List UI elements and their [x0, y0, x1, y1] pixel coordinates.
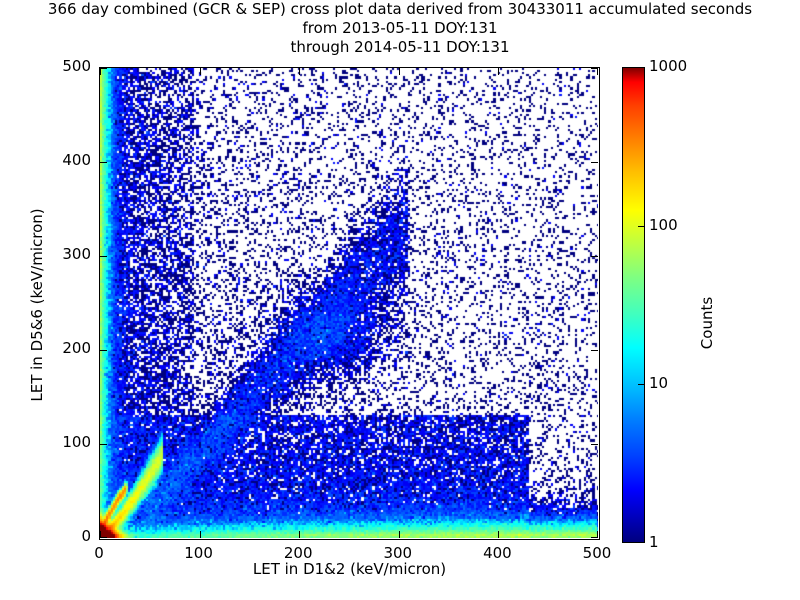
colorbar-gradient — [622, 67, 645, 543]
x-tick-mark — [200, 531, 201, 538]
colorbar-tick-label: 1000 — [649, 57, 687, 75]
plot-area — [99, 67, 600, 540]
y-tick-mark — [100, 444, 107, 445]
colorbar-title: Counts — [698, 253, 716, 393]
scatter-heatmap — [100, 68, 598, 538]
y-tick-label: 500 — [21, 57, 91, 75]
x-tick-mark — [299, 531, 300, 538]
y-axis-label: LET in D5&6 (keV/micron) — [28, 185, 46, 425]
title-line-3: through 2014-05-11 DOY:131 — [0, 38, 800, 57]
y-tick-label: 0 — [21, 527, 91, 545]
figure-title: 366 day combined (GCR & SEP) cross plot … — [0, 0, 800, 57]
x-axis-label: LET in D1&2 (keV/micron) — [99, 560, 600, 578]
y-tick-mark — [591, 350, 598, 351]
figure-canvas: 366 day combined (GCR & SEP) cross plot … — [0, 0, 800, 600]
x-tick-mark — [498, 68, 499, 75]
y-tick-mark — [100, 350, 107, 351]
y-tick-mark — [591, 162, 598, 163]
y-tick-mark — [591, 68, 598, 69]
y-tick-mark — [100, 162, 107, 163]
colorbar-tick-label: 100 — [649, 216, 678, 234]
title-line-2: from 2013-05-11 DOY:131 — [0, 19, 800, 38]
x-tick-mark — [498, 531, 499, 538]
x-tick-mark — [200, 68, 201, 75]
y-tick-label: 100 — [21, 433, 91, 451]
title-line-1: 366 day combined (GCR & SEP) cross plot … — [0, 0, 800, 19]
y-tick-mark — [100, 256, 107, 257]
colorbar-tick-mark — [638, 226, 644, 227]
colorbar-tick-label: 10 — [649, 374, 668, 392]
y-tick-mark — [591, 444, 598, 445]
y-tick-mark — [591, 537, 598, 538]
x-tick-mark — [299, 68, 300, 75]
colorbar-tick-mark — [638, 384, 644, 385]
y-tick-label: 400 — [21, 151, 91, 169]
y-tick-mark — [591, 256, 598, 257]
y-tick-mark — [100, 68, 107, 69]
colorbar-tick-label: 1 — [649, 533, 659, 551]
y-tick-mark — [100, 537, 107, 538]
x-tick-mark — [399, 68, 400, 75]
x-tick-mark — [399, 531, 400, 538]
